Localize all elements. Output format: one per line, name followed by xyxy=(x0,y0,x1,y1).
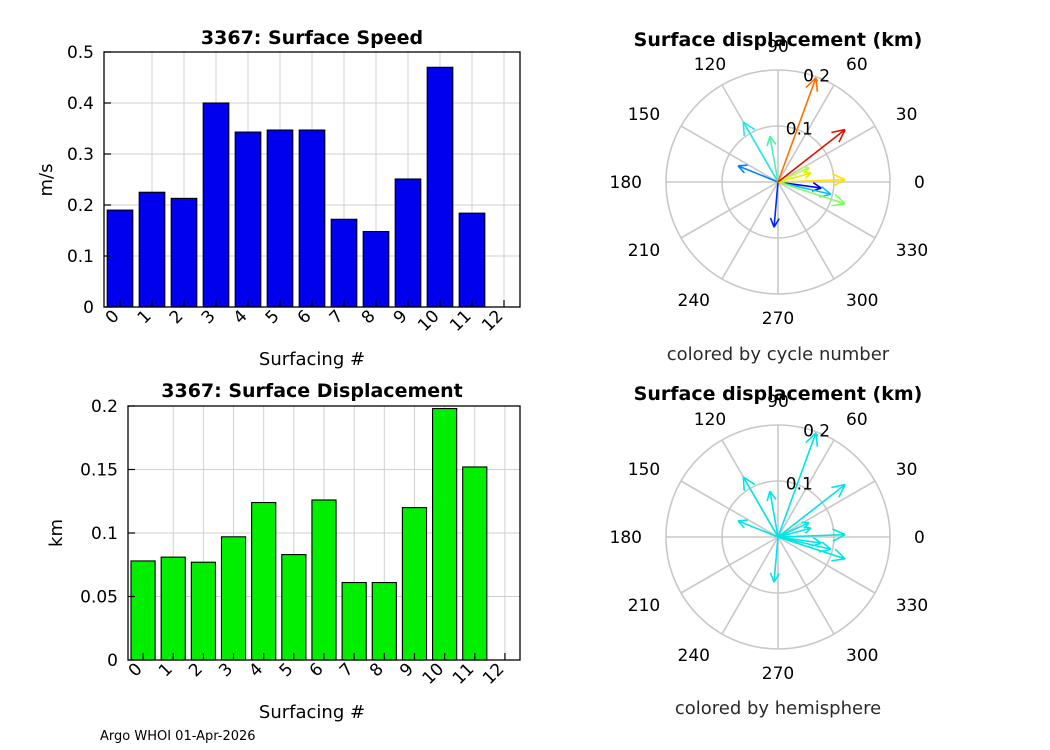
y-tick-label: 0.15 xyxy=(80,461,118,481)
polar-angle-label: 0 xyxy=(914,173,925,193)
polar-angle-label: 150 xyxy=(628,460,660,480)
x-tick-label: 12 xyxy=(479,659,508,688)
x-tick-label: 1 xyxy=(155,659,177,681)
polar-angle-label: 180 xyxy=(610,528,642,548)
bar xyxy=(459,213,485,307)
bar xyxy=(372,583,396,660)
polar-hemisphere-angle-labels: 0306090120150180210240270300330 xyxy=(610,392,929,684)
x-tick-label: 6 xyxy=(306,659,328,681)
polar-angle-label: 270 xyxy=(762,309,794,329)
x-tick-label: 4 xyxy=(230,306,252,328)
x-tick-label: 6 xyxy=(294,306,316,328)
displacement-x-axis-label: Surfacing # xyxy=(259,702,365,723)
bar xyxy=(395,179,421,307)
x-tick-label: 5 xyxy=(276,659,298,681)
x-tick-label: 0 xyxy=(125,659,147,681)
polar-vector xyxy=(767,136,778,182)
bar xyxy=(402,508,426,660)
bar xyxy=(171,198,197,307)
polar-angle-label: 90 xyxy=(767,392,789,412)
polar-angle-label: 120 xyxy=(694,410,726,430)
polar-angle-label: 0 xyxy=(914,528,925,548)
y-tick-label: 0.2 xyxy=(67,196,94,216)
bar xyxy=(342,583,366,660)
x-tick-label: 10 xyxy=(414,306,443,335)
panel-surface-speed: 3367: Surface Speed 00.10.20.30.40.5 012… xyxy=(36,27,520,370)
x-tick-label: 11 xyxy=(446,306,475,335)
bar xyxy=(161,557,185,660)
speed-x-axis-label: Surfacing # xyxy=(259,349,365,370)
x-tick-label: 3 xyxy=(215,659,237,681)
polar-vector xyxy=(767,491,778,537)
bar xyxy=(203,103,229,307)
x-tick-label: 9 xyxy=(396,659,418,681)
polar-angle-label: 210 xyxy=(628,596,660,616)
x-tick-label: 10 xyxy=(419,659,448,688)
x-tick-label: 12 xyxy=(478,306,507,335)
y-tick-label: 0.5 xyxy=(67,43,94,63)
x-tick-label: 7 xyxy=(336,659,358,681)
displacement-bars-group xyxy=(131,409,487,660)
polar-vector xyxy=(738,520,778,537)
bar xyxy=(433,409,457,660)
polar-angle-label: 210 xyxy=(628,241,660,261)
polar-cycle-angle-labels: 0306090120150180210240270300330 xyxy=(610,37,929,329)
x-tick-label: 9 xyxy=(390,306,412,328)
polar-angle-label: 90 xyxy=(767,37,789,57)
bar xyxy=(363,232,389,307)
bar xyxy=(107,210,133,307)
polar-angle-label: 30 xyxy=(896,105,918,125)
displacement-chart-title: 3367: Surface Displacement xyxy=(161,380,463,402)
bar xyxy=(139,192,165,307)
bar xyxy=(252,503,276,660)
polar-angle-label: 120 xyxy=(694,55,726,75)
polar-angle-label: 270 xyxy=(762,664,794,684)
bar xyxy=(191,562,215,660)
x-tick-label: 4 xyxy=(245,659,267,681)
y-tick-label: 0 xyxy=(83,298,94,318)
bar xyxy=(427,67,453,307)
panel-surface-displacement: 3367: Surface Displacement 00.050.10.150… xyxy=(46,380,520,723)
x-tick-label: 11 xyxy=(449,659,478,688)
y-tick-label: 0.1 xyxy=(91,524,118,544)
displacement-y-tick-labels: 00.050.10.150.2 xyxy=(80,397,135,671)
x-tick-label: 2 xyxy=(185,659,207,681)
x-tick-label: 0 xyxy=(102,306,124,328)
x-tick-label: 8 xyxy=(366,659,388,681)
polar-cycle-caption: colored by cycle number xyxy=(667,344,890,365)
bar xyxy=(331,219,357,307)
bar xyxy=(131,561,155,660)
polar-angle-label: 240 xyxy=(678,291,710,311)
figure-canvas: 3367: Surface Speed 00.10.20.30.40.5 012… xyxy=(0,0,1050,750)
y-tick-label: 0.4 xyxy=(67,94,94,114)
y-tick-label: 0.1 xyxy=(67,247,94,267)
polar-angle-label: 150 xyxy=(628,105,660,125)
y-tick-label: 0.2 xyxy=(91,397,118,417)
bar xyxy=(267,130,293,307)
x-tick-label: 8 xyxy=(358,306,380,328)
speed-chart-title: 3367: Surface Speed xyxy=(201,27,423,49)
panel-polar-hemisphere: Surface displacement (km) 03060901201501… xyxy=(610,383,929,719)
polar-angle-label: 300 xyxy=(846,646,878,666)
bar xyxy=(282,555,306,660)
x-tick-label: 5 xyxy=(262,306,284,328)
footer-credit: Argo WHOI 01-Apr-2026 xyxy=(100,729,256,744)
y-tick-label: 0 xyxy=(107,651,118,671)
polar-angle-label: 330 xyxy=(896,241,928,261)
polar-angle-label: 240 xyxy=(678,646,710,666)
polar-hemisphere-caption: colored by hemisphere xyxy=(675,698,881,719)
x-tick-label: 1 xyxy=(134,306,156,328)
bar xyxy=(463,467,487,660)
x-tick-label: 7 xyxy=(326,306,348,328)
polar-angle-label: 300 xyxy=(846,291,878,311)
bar xyxy=(312,500,336,660)
polar-vector xyxy=(738,165,778,182)
x-tick-label: 2 xyxy=(166,306,188,328)
polar-angle-label: 30 xyxy=(896,460,918,480)
polar-angle-label: 60 xyxy=(846,410,868,430)
bar xyxy=(221,537,245,660)
bar xyxy=(299,130,325,307)
bar xyxy=(235,132,261,307)
speed-y-axis-label: m/s xyxy=(36,164,57,197)
panel-polar-cycle-number: Surface displacement (km) 03060901201501… xyxy=(610,29,929,365)
displacement-y-axis-label: km xyxy=(46,519,67,547)
y-tick-label: 0.3 xyxy=(67,145,94,165)
polar-angle-label: 180 xyxy=(610,173,642,193)
polar-angle-label: 60 xyxy=(846,55,868,75)
x-tick-label: 3 xyxy=(198,306,220,328)
y-tick-label: 0.05 xyxy=(80,588,118,608)
polar-angle-label: 330 xyxy=(896,596,928,616)
